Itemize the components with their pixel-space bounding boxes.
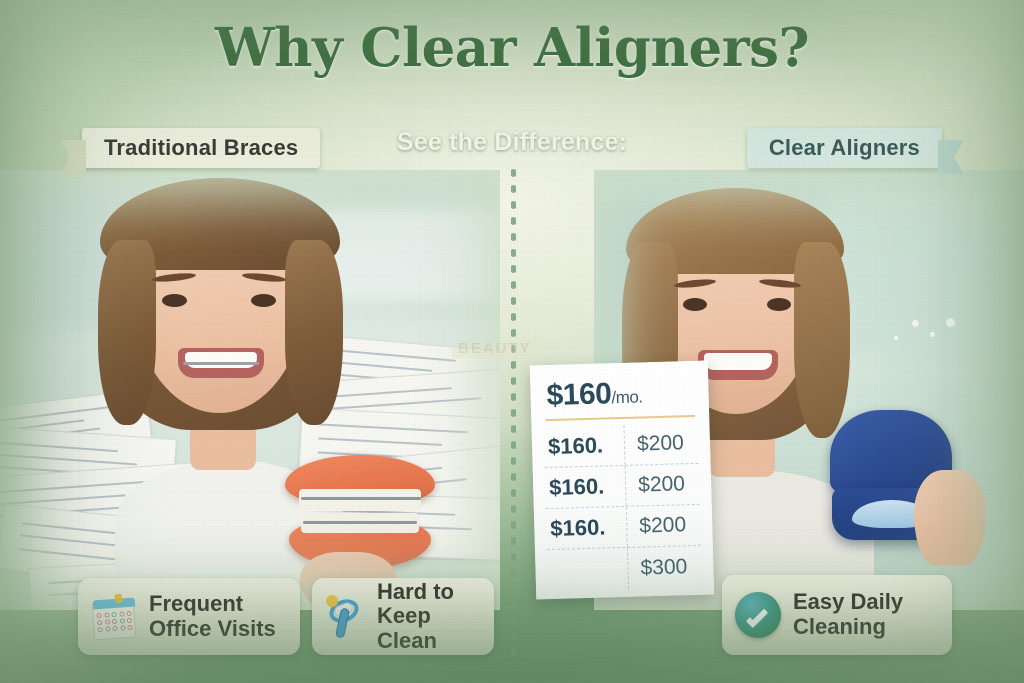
price-cell-left: $160. bbox=[544, 432, 625, 460]
price-header-period: /mo. bbox=[611, 387, 643, 407]
center-dotted-divider bbox=[511, 165, 516, 665]
badge-line-2: Keep Clean bbox=[377, 604, 476, 653]
price-row: $160. $200 bbox=[545, 464, 700, 509]
badge-line-2: Cleaning bbox=[793, 615, 903, 640]
badge-line-2: Office Visits bbox=[149, 617, 276, 642]
badge-line-1: Frequent bbox=[149, 592, 276, 617]
banner-left-label: Traditional Braces bbox=[82, 128, 320, 168]
price-cell-right: $200 bbox=[624, 423, 699, 465]
price-row: $160. $200 bbox=[543, 423, 698, 468]
price-cell-right: $200 bbox=[626, 505, 701, 547]
calendar-icon bbox=[91, 595, 137, 639]
price-cell-left: $160. bbox=[546, 514, 627, 542]
poster-canvas: BEAUTY $160/mo. $160. $200 $160. $200 $1… bbox=[0, 0, 1024, 683]
arrow-ghost-text: BEAUTY bbox=[458, 340, 532, 357]
badge-hard-to-keep-clean: Hard to Keep Clean bbox=[312, 578, 494, 655]
banner-traditional-braces: Traditional Braces bbox=[60, 128, 320, 168]
interdental-brush-icon bbox=[325, 594, 365, 640]
price-cell-left: $160. bbox=[545, 473, 626, 501]
price-cell-right: $200 bbox=[625, 464, 700, 506]
mouth-straight-teeth bbox=[698, 350, 778, 380]
price-row: $300 bbox=[547, 546, 702, 591]
mouth-with-braces bbox=[178, 348, 264, 378]
price-cell-left bbox=[548, 568, 628, 570]
banner-right-label: Clear Aligners bbox=[747, 128, 942, 168]
badge-line-1: Hard to bbox=[377, 580, 476, 605]
badge-label: Hard to Keep Clean bbox=[377, 580, 476, 654]
price-cell-right: $300 bbox=[627, 546, 702, 589]
price-header-amount: $160 bbox=[546, 377, 612, 412]
ribbon-tail-icon bbox=[60, 140, 86, 174]
check-circle-icon bbox=[735, 592, 781, 638]
transition-arrow-icon: BEAUTY bbox=[452, 330, 562, 370]
photo-traditional-braces bbox=[0, 170, 500, 610]
badge-label: Easy Daily Cleaning bbox=[793, 590, 903, 639]
page-title: Why Clear Aligners? bbox=[0, 22, 1024, 75]
price-row: $160. $200 bbox=[546, 505, 701, 550]
badge-label: Frequent Office Visits bbox=[149, 592, 276, 641]
badge-line-1: Easy Daily bbox=[793, 590, 903, 615]
price-card: $160/mo. $160. $200 $160. $200 $160. $20… bbox=[530, 361, 714, 600]
badge-easy-daily-cleaning: Easy Daily Cleaning bbox=[722, 575, 952, 655]
banner-clear-aligners: Clear Aligners bbox=[747, 128, 964, 168]
price-card-header: $160/mo. bbox=[542, 371, 697, 419]
ribbon-tail-icon bbox=[938, 140, 964, 174]
badge-frequent-office-visits: Frequent Office Visits bbox=[78, 578, 300, 655]
